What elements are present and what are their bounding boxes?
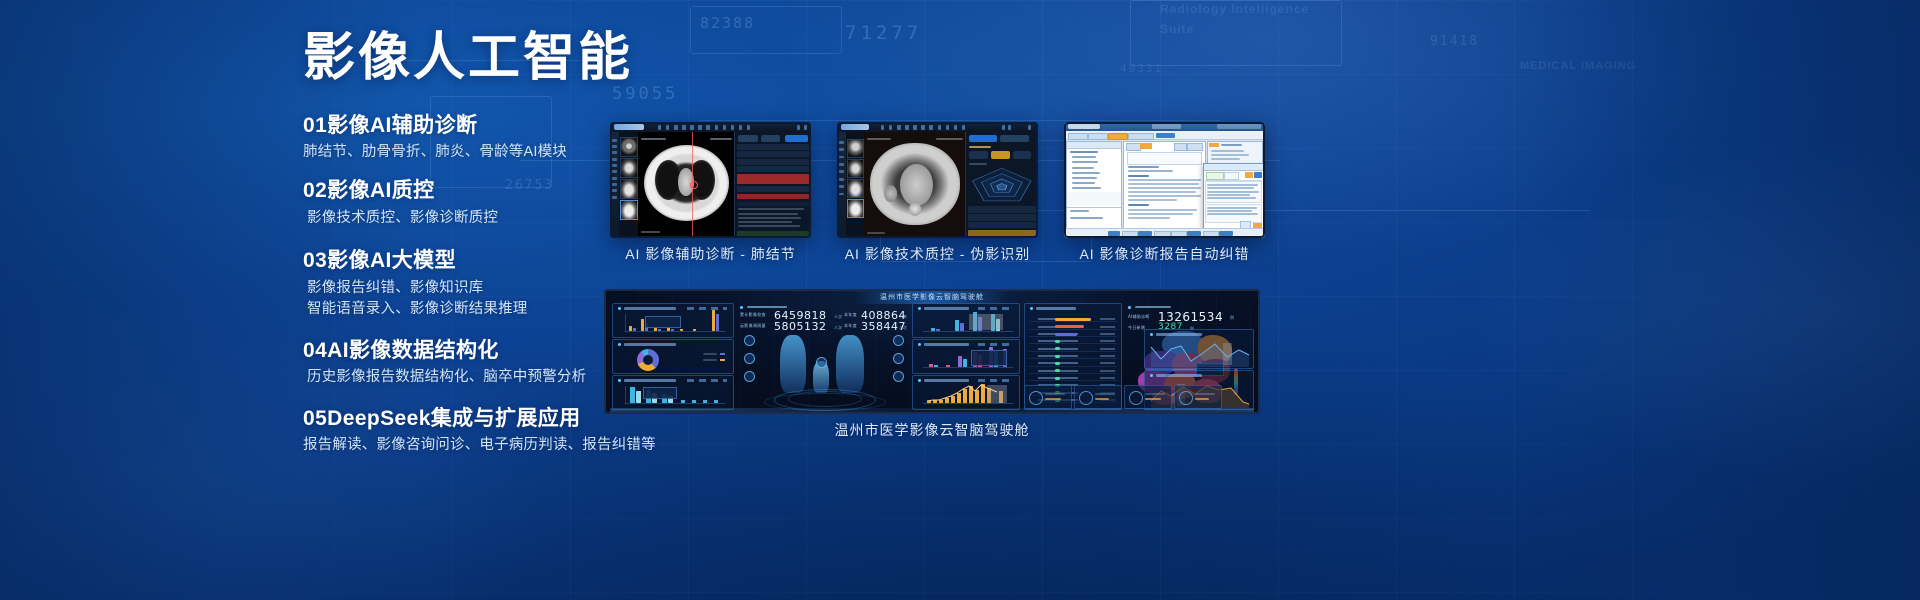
stat-unit-4: 例 — [1230, 315, 1234, 321]
panel-category-distribution[interactable] — [912, 339, 1020, 374]
banner-stage: 82388 71277 59055 26753 91418 40331 1390… — [0, 0, 1920, 600]
panel-trend-top[interactable] — [1144, 329, 1254, 369]
panel-exam-category-pie[interactable] — [612, 339, 734, 374]
page-title: 影像人工智能 — [303, 30, 723, 86]
caption-screenshot-2: AI 影像技术质控 - 伪影识别 — [837, 244, 1038, 264]
feature-label-04: AI影像数据结构化 — [327, 339, 499, 362]
kpi-card-4[interactable] — [1174, 385, 1222, 409]
stat-label-2: 云影像调阅量 — [740, 323, 766, 329]
hologram-family-figure — [744, 331, 904, 409]
caption-dashboard: 温州市医学影像云智脑驾驶舱 — [604, 420, 1260, 440]
screenshot-ct-lung-nodule[interactable] — [610, 122, 811, 238]
kpi-card-2[interactable] — [1074, 385, 1122, 409]
screenshot-ct-quality-control[interactable] — [837, 122, 1038, 238]
feature-label-02: 影像AI质控 — [327, 179, 434, 202]
ai-findings-panel[interactable] — [734, 132, 811, 238]
feature-label-01: 影像AI辅助诊断 — [327, 114, 477, 137]
stat-label-1: 本年度 — [844, 312, 857, 318]
panel-region-volume[interactable] — [612, 375, 734, 410]
stat-label-0: 累计影像检查 — [740, 312, 766, 318]
quality-radar-chart — [970, 166, 1034, 204]
app-toolbar[interactable] — [1064, 131, 1265, 140]
quality-score-panel[interactable] — [965, 132, 1038, 238]
report-editor-panel[interactable] — [1123, 141, 1205, 229]
app-logo-icon — [614, 124, 644, 130]
feature-number-02: 02 — [303, 179, 327, 202]
feature-label-03: 影像AI大模型 — [327, 249, 456, 272]
stat-label-4: AI辅助诊断 — [1128, 314, 1150, 320]
kpi-card-1[interactable] — [1024, 385, 1072, 409]
dashboard-screenshot[interactable]: 温州市医学影像云智脑驾驶舱 — [604, 289, 1260, 414]
stat-unit-0: 人次 — [834, 314, 842, 320]
app-statusbar[interactable] — [1064, 228, 1265, 238]
panel-ai-stats: AI辅助诊断 13261534 例 今日新增 3287 例 — [1126, 303, 1252, 327]
feature-number-04: 04 — [303, 339, 327, 362]
caption-screenshot-1: AI 影像辅助诊断 - 肺结节 — [610, 244, 811, 264]
panel-institution-volume[interactable] — [612, 303, 734, 338]
stat-label-3: 本年度 — [844, 323, 857, 329]
ai-correction-dialog[interactable] — [1203, 163, 1265, 232]
feature-number-01: 01 — [303, 114, 327, 137]
panel-core-stats: 累计影像检查 6459818 人次 本年度 408864 人次 云影像调阅量 5… — [738, 303, 906, 327]
panel-cloud-retrieval-trend[interactable] — [912, 375, 1020, 410]
panel-modality-stats[interactable] — [912, 303, 1020, 338]
axial-ct-viewport[interactable] — [638, 132, 735, 238]
app-logo-icon — [841, 124, 869, 130]
screenshot-report-correction[interactable] — [1064, 122, 1265, 238]
feature-number-03: 03 — [303, 249, 327, 272]
app-titlebar — [1064, 122, 1265, 131]
feature-label-05: DeepSeek集成与扩展应用 — [327, 407, 580, 430]
feature-number-05: 05 — [303, 407, 327, 430]
caption-screenshot-3: AI 影像诊断报告自动纠错 — [1064, 244, 1265, 264]
dashboard-title: 温州市医学影像云智脑驾驶舱 — [854, 290, 1010, 304]
series-thumbnail-list[interactable] — [846, 132, 865, 238]
ai-finding-highlighted[interactable] — [737, 174, 809, 185]
series-thumbnail-list[interactable] — [619, 132, 639, 238]
kpi-card-3[interactable] — [1124, 385, 1172, 409]
patient-tree-panel[interactable] — [1066, 141, 1122, 229]
axial-ct-viewport[interactable] — [864, 132, 966, 238]
